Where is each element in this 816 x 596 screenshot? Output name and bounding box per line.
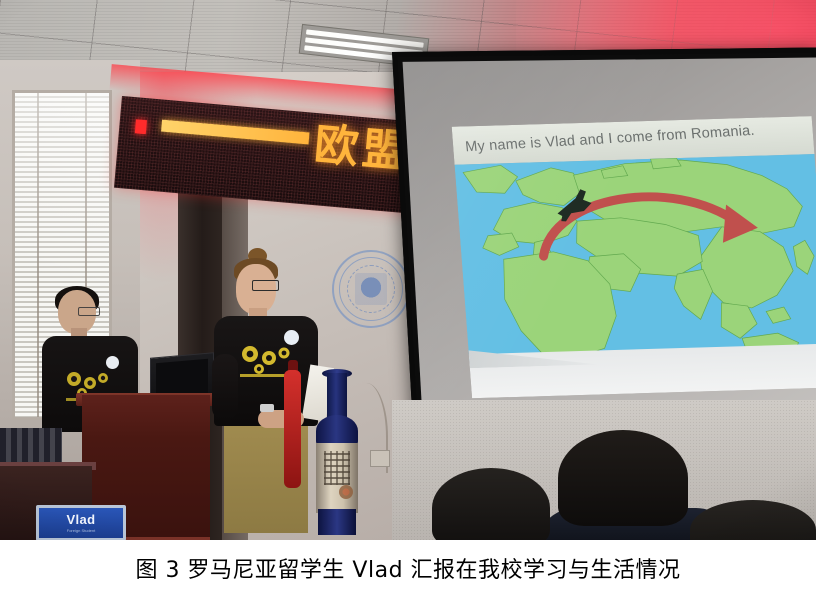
vase-calligraphy <box>324 451 350 485</box>
vase-foot <box>318 509 356 535</box>
audience-member-head-1 <box>432 468 550 540</box>
presentation-slide: My name is Vlad and I come from Romania. <box>452 116 816 398</box>
porcelain-vase <box>313 373 361 535</box>
seal-center-glyph <box>355 273 387 305</box>
presenter-vlad-left-arm <box>212 354 238 420</box>
led-indicator-square <box>135 119 147 134</box>
slide-footer-band <box>469 344 816 399</box>
vase-neck <box>327 373 347 421</box>
screen-surface: My name is Vlad and I come from Romania. <box>403 58 816 452</box>
nameplate-name: Vlad <box>66 513 95 526</box>
figure-caption-text: 图 3 罗马尼亚留学生 Vlad 汇报在我校学习与生活情况 <box>135 552 680 584</box>
map-landmasses <box>463 154 816 360</box>
figure-page: 欧盟 My name is Vlad and I come from Roman… <box>0 0 816 596</box>
nameplate-subtitle: Foreign Student <box>67 528 95 534</box>
vase-floral-motif <box>339 485 353 499</box>
presenter-left-glasses-icon <box>78 307 100 316</box>
figure-caption: 图 3 罗马尼亚留学生 Vlad 汇报在我校学习与生活情况 <box>0 540 816 596</box>
nameplate: Vlad Foreign Student <box>36 505 126 540</box>
presenter-vlad-glasses-icon <box>252 280 279 291</box>
photograph: 欧盟 My name is Vlad and I come from Roman… <box>0 0 816 540</box>
wall-socket <box>370 450 390 467</box>
presenter-vlad-wristwatch <box>260 404 274 412</box>
world-map-graphic <box>455 154 816 360</box>
fire-extinguisher <box>284 370 301 488</box>
screen-frame: My name is Vlad and I come from Romania. <box>392 48 816 452</box>
university-seal-icon <box>332 250 410 328</box>
audience-member-head-2 <box>558 430 688 526</box>
slide-title-text: My name is Vlad and I come from Romania. <box>464 123 755 156</box>
